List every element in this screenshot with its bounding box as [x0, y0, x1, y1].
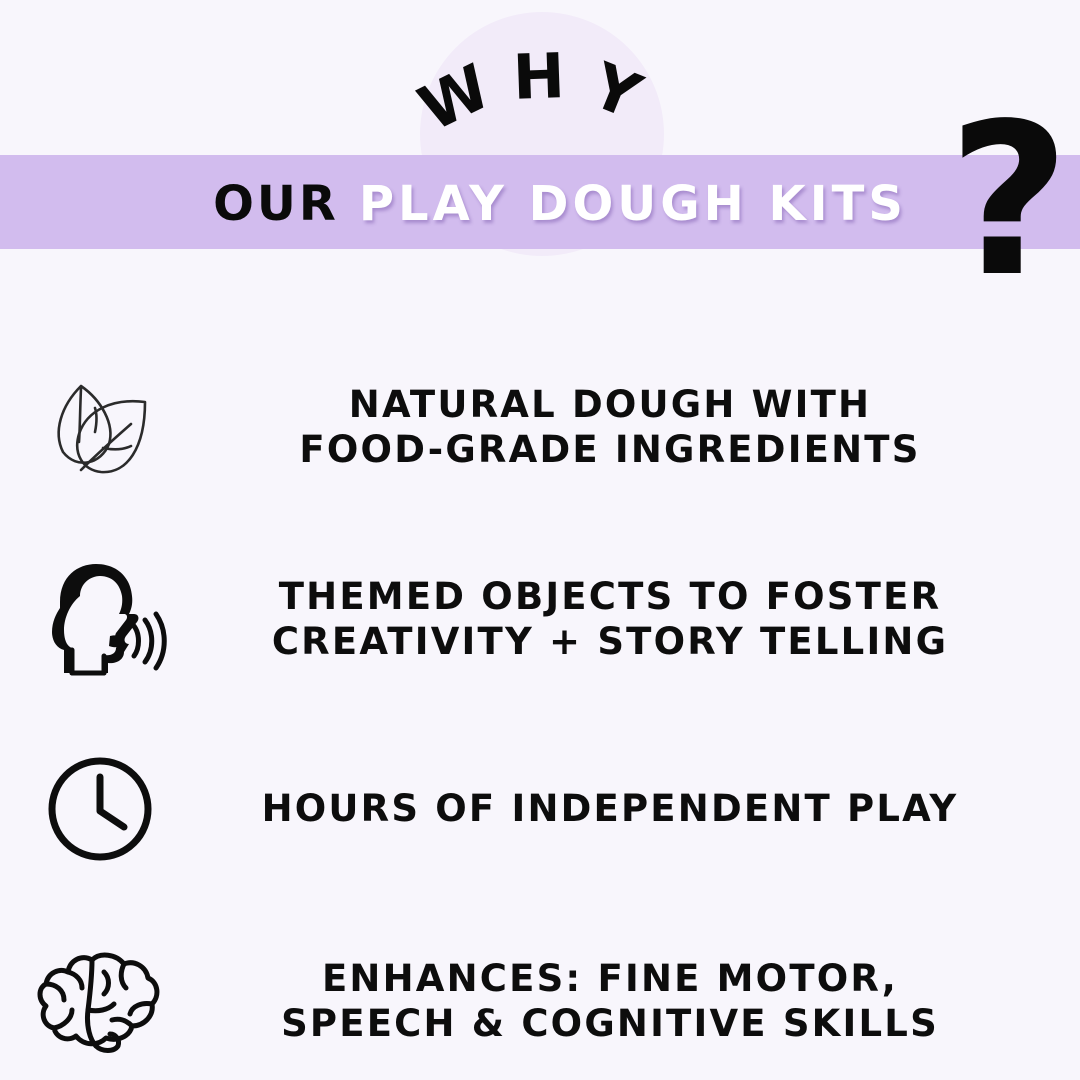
feature-row-themed-objects: THEMED OBJECTS TO FOSTER CREATIVITY + ST… — [0, 534, 1080, 704]
feature-line: SPEECH & COGNITIVE SKILLS — [200, 1001, 1020, 1046]
feature-line: NATURAL DOUGH WITH — [200, 382, 1020, 427]
poster-canvas: W H Y OUR PLAY DOUGH KITS ? — [0, 0, 1080, 1080]
headline-banner-text: OUR PLAY DOUGH KITS — [173, 180, 907, 228]
feature-line: THEMED OBJECTS TO FOSTER — [200, 574, 1020, 619]
feature-text-independent-play: HOURS OF INDEPENDENT PLAY — [200, 786, 1080, 831]
feature-line: HOURS OF INDEPENDENT PLAY — [200, 786, 1020, 831]
header: W H Y OUR PLAY DOUGH KITS ? — [0, 0, 1080, 300]
leaves-icon — [0, 366, 200, 488]
feature-row-natural-dough: NATURAL DOUGH WITH FOOD-GRADE INGREDIENT… — [0, 342, 1080, 512]
speaking-head-icon — [0, 560, 200, 678]
headline-banner: OUR PLAY DOUGH KITS — [0, 155, 1080, 249]
brain-icon — [0, 942, 200, 1060]
feature-list: NATURAL DOUGH WITH FOOD-GRADE INGREDIENT… — [0, 330, 1080, 1080]
headline-our: OUR — [213, 180, 339, 228]
feature-line: FOOD-GRADE INGREDIENTS — [200, 427, 1020, 472]
feature-row-enhances-skills: ENHANCES: FINE MOTOR, SPEECH & COGNITIVE… — [0, 916, 1080, 1080]
headline-play-dough-kits: PLAY DOUGH KITS — [359, 180, 907, 228]
feature-text-themed-objects: THEMED OBJECTS TO FOSTER CREATIVITY + ST… — [200, 574, 1080, 664]
feature-row-independent-play: HOURS OF INDEPENDENT PLAY — [0, 724, 1080, 894]
clock-icon — [0, 751, 200, 867]
feature-text-natural-dough: NATURAL DOUGH WITH FOOD-GRADE INGREDIENT… — [200, 382, 1080, 472]
feature-text-enhances-skills: ENHANCES: FINE MOTOR, SPEECH & COGNITIVE… — [200, 956, 1080, 1046]
question-mark: ? — [948, 96, 1070, 306]
feature-line: ENHANCES: FINE MOTOR, — [200, 956, 1020, 1001]
feature-line: CREATIVITY + STORY TELLING — [200, 619, 1020, 664]
